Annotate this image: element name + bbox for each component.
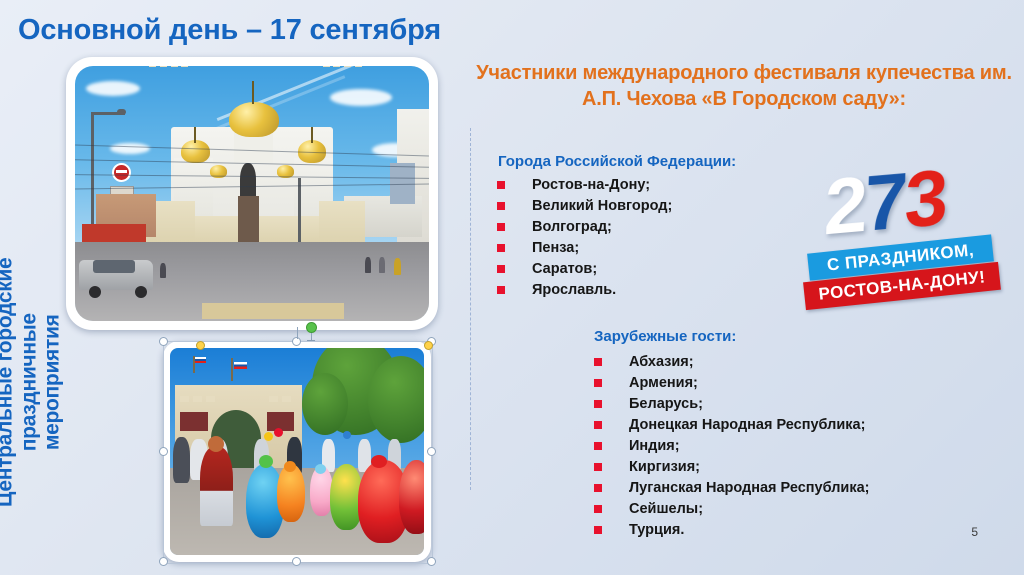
list-item: Сейшелы;	[594, 502, 870, 517]
column-divider	[470, 128, 471, 490]
monument-base	[238, 196, 259, 242]
list-item: Великий Новгород;	[497, 199, 672, 214]
foreign-guests-heading: Зарубежные гости:	[594, 328, 736, 345]
bullet-square-icon	[594, 400, 602, 408]
russian-cities-heading: Города Российской Федерации:	[498, 153, 736, 170]
bullet-square-icon	[497, 223, 505, 231]
resize-handle-middle-left[interactable]	[159, 447, 168, 456]
list-item: Донецкая Народная Республика;	[594, 418, 870, 433]
bullet-square-icon	[497, 265, 505, 273]
list-item-label: Волгоград;	[532, 220, 612, 235]
crosswalk	[202, 303, 344, 319]
list-item-label: Пенза;	[532, 241, 579, 256]
fence-wall-right	[319, 201, 365, 242]
pedestrian	[160, 263, 166, 278]
monument-figure	[240, 163, 256, 199]
bullet-square-icon	[497, 202, 505, 210]
list-item-label: Ростов-на-Дону;	[532, 178, 650, 193]
logo-digit-7: 7	[863, 156, 906, 248]
list-item: Пенза;	[497, 241, 672, 256]
resize-handle-middle-right[interactable]	[427, 447, 436, 456]
pedestrian	[379, 257, 385, 273]
anniversary-logo: 273 С ПРАЗДНИКОМ, РОСТОВ-НА-ДОНУ!	[818, 162, 1014, 317]
pedestrian	[394, 258, 401, 275]
list-item: Беларусь;	[594, 397, 870, 412]
bullet-square-icon	[594, 358, 602, 366]
list-item-label: Ярославль.	[532, 283, 616, 298]
adjust-handle-left[interactable]	[196, 341, 205, 350]
cathedral-spire-right	[311, 127, 313, 142]
list-item-label: Донецкая Народная Республика;	[629, 418, 865, 433]
bullet-square-icon	[594, 505, 602, 513]
cathedral-photo-frame[interactable]	[66, 57, 438, 330]
list-item-label: Великий Новгород;	[532, 199, 672, 214]
page-title: Основной день – 17 сентября	[18, 14, 441, 47]
list-item-label: Беларусь;	[629, 397, 703, 412]
cathedral-spire-left	[194, 127, 196, 142]
resize-handle-bottom-right[interactable]	[427, 557, 436, 566]
cathedral-dome-left	[181, 140, 209, 163]
logo-digits: 273	[823, 151, 947, 253]
list-item: Турция.	[594, 523, 870, 538]
page-number: 5	[971, 525, 978, 539]
adjust-handle-right[interactable]	[424, 341, 433, 350]
bullet-square-icon	[497, 244, 505, 252]
list-item-label: Армения;	[629, 376, 698, 391]
bullet-square-icon	[594, 442, 602, 450]
list-item: Армения;	[594, 376, 870, 391]
festival-heading: Участники международного фестиваля купеч…	[466, 60, 1022, 112]
list-item: Луганская Народная Республика;	[594, 481, 870, 496]
cathedral-photo	[75, 66, 429, 321]
bullet-square-icon	[594, 463, 602, 471]
resize-handle-bottom-center[interactable]	[292, 557, 301, 566]
red-roof	[82, 224, 146, 242]
list-item: Киргизия;	[594, 460, 870, 475]
list-item: Саратов;	[497, 262, 672, 277]
resize-handle-top-left[interactable]	[159, 337, 168, 346]
bullet-square-icon	[497, 286, 505, 294]
list-item-label: Сейшелы;	[629, 502, 703, 517]
cathedral-dome-center	[229, 102, 279, 138]
foreign-guests-list: Абхазия; Армения; Беларусь; Донецкая Нар…	[594, 355, 870, 544]
logo-digit-3: 3	[903, 152, 946, 244]
rotate-handle-stem	[297, 327, 298, 339]
no-entry-sign	[112, 163, 131, 182]
bullet-square-icon	[594, 379, 602, 387]
list-item: Индия;	[594, 439, 870, 454]
vertical-section-label: Центральные городские праздничные меропр…	[0, 172, 64, 575]
list-item-label: Абхазия;	[629, 355, 694, 370]
cloud	[110, 143, 150, 154]
cathedral-spire	[252, 81, 254, 104]
bullet-square-icon	[594, 526, 602, 534]
bullet-square-icon	[594, 484, 602, 492]
presentation-slide: Основной день – 17 сентября Центральные …	[0, 0, 1024, 575]
pedestrian	[365, 257, 371, 273]
list-item-label: Индия;	[629, 439, 680, 454]
list-item-label: Саратов;	[532, 262, 597, 277]
list-item-label: Луганская Народная Республика;	[629, 481, 870, 496]
bullet-square-icon	[497, 181, 505, 189]
list-item: Ростов-на-Дону;	[497, 178, 672, 193]
rotate-handle[interactable]	[306, 322, 317, 333]
cloud	[330, 89, 392, 106]
list-item-label: Киргизия;	[629, 460, 700, 475]
list-item: Волгоград;	[497, 220, 672, 235]
selection-border	[163, 341, 433, 564]
list-item: Ярославль.	[497, 283, 672, 298]
bullet-square-icon	[594, 421, 602, 429]
russian-cities-list: Ростов-на-Дону; Великий Новгород; Волгог…	[497, 178, 672, 304]
car-window	[93, 260, 135, 273]
logo-digit-2: 2	[823, 159, 866, 251]
resize-handle-bottom-left[interactable]	[159, 557, 168, 566]
list-item-label: Турция.	[629, 523, 684, 538]
list-item: Абхазия;	[594, 355, 870, 370]
